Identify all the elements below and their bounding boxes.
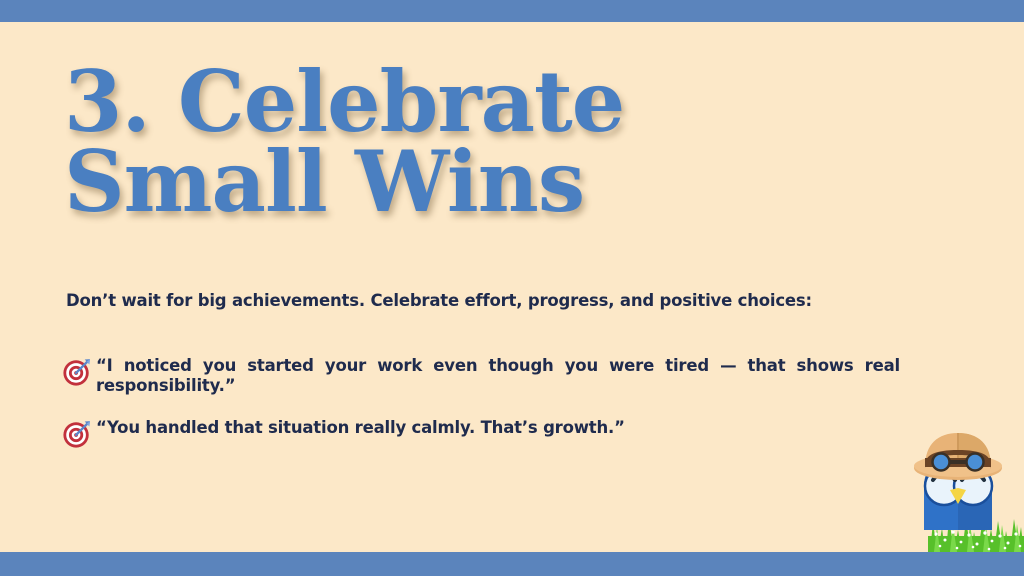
title-line-2: Small Wins (64, 142, 824, 222)
list-item-label: “I noticed you started your work even th… (96, 356, 900, 396)
bottom-decorative-bar (0, 552, 1024, 576)
list-item-label: “You handled that situation really calml… (96, 418, 900, 438)
slide-canvas: 3. Celebrate Small Wins Don’t wait for b… (0, 0, 1024, 576)
direct-hit-target-icon (62, 357, 92, 387)
bullet-list: “I noticed you started your work even th… (62, 356, 900, 471)
blue-owl-with-safari-hat-illustration (902, 424, 1014, 552)
list-item: “I noticed you started your work even th… (62, 356, 900, 396)
list-item: “You handled that situation really calml… (62, 418, 900, 449)
title-line-1: 3. Celebrate (64, 62, 824, 142)
direct-hit-target-icon (62, 419, 92, 449)
page-title: 3. Celebrate Small Wins (64, 62, 824, 222)
subtitle-text: Don’t wait for big achievements. Celebra… (66, 290, 896, 311)
top-decorative-bar (0, 0, 1024, 22)
